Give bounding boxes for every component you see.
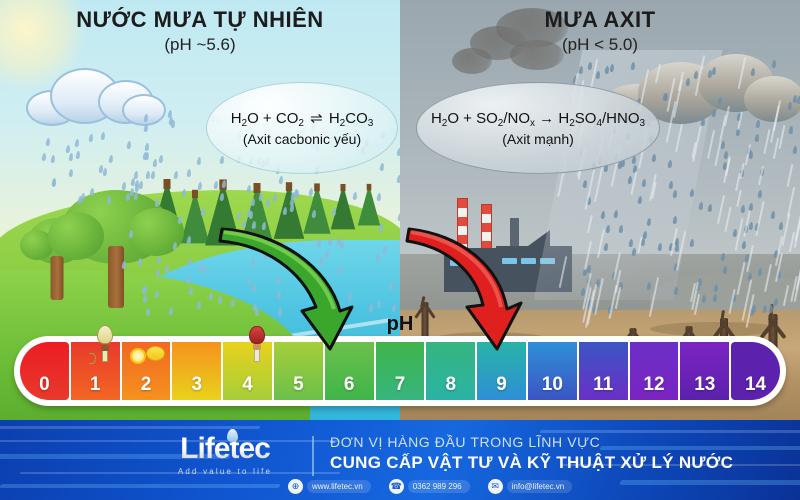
- ph-cell-value: 3: [192, 374, 203, 396]
- right-panel-heading: MƯA AXIT (pH < 5.0): [400, 8, 800, 55]
- ph-cell-value: 8: [445, 374, 456, 396]
- slogan-line-1: ĐƠN VỊ HÀNG ĐẦU TRONG LĨNH VỰC: [330, 434, 733, 452]
- right-title: MƯA AXIT: [400, 8, 800, 32]
- left-panel-heading: NƯỚC MƯA TỰ NHIÊN (pH ~5.6): [0, 8, 400, 55]
- right-formula-note: (Axit mạnh): [502, 131, 574, 147]
- brand-tagline: Add value to life: [150, 467, 300, 476]
- contact-text: www.lifetec.vn: [307, 480, 371, 493]
- brand-name: Lifetec: [180, 434, 270, 464]
- ph-cell-value: 11: [593, 374, 613, 396]
- right-formula: H2O + SO2/NOx → H2SO4/HNO3: [431, 110, 645, 129]
- ph-cell-value: 12: [643, 374, 664, 396]
- contact-text: info@lifetec.vn: [507, 480, 573, 493]
- white-cloud-icon: [26, 64, 166, 126]
- lifetec-logo[interactable]: Lifetec Add value to life: [150, 434, 300, 476]
- ph-cell-value: 7: [395, 374, 406, 396]
- ph-cell-value: 0: [39, 374, 50, 396]
- ph-cell-value: 4: [242, 374, 253, 396]
- infographic-canvas: NƯỚC MƯA TỰ NHIÊN (pH ~5.6) MƯA AXIT (pH…: [0, 0, 800, 500]
- ph-cell-value: 6: [344, 374, 355, 396]
- contact-phone[interactable]: ☎0362 989 296: [389, 479, 470, 494]
- footer-divider: [312, 436, 314, 476]
- footer-brand-bar: Lifetec Add value to life ĐƠN VỊ HÀNG ĐẦ…: [0, 420, 800, 500]
- ph-cell-value: 2: [141, 374, 152, 396]
- water-drop-icon: [227, 429, 238, 442]
- footer-slogan: ĐƠN VỊ HÀNG ĐẦU TRONG LĨNH VỰC CUNG CẤP …: [330, 434, 733, 473]
- left-ph-note: (pH ~5.6): [0, 35, 400, 55]
- ph-cell-value: 13: [694, 374, 715, 396]
- contact-globe[interactable]: ⊕www.lifetec.vn: [288, 479, 371, 494]
- ph-cell-value: 9: [496, 374, 507, 396]
- right-formula-bubble: H2O + SO2/NOx → H2SO4/HNO3 (Axit mạnh): [416, 82, 660, 174]
- ph-cell-value: 5: [293, 374, 304, 396]
- left-formula-note: (Axit cacbonic yếu): [243, 131, 361, 147]
- mail-icon: ✉: [488, 479, 503, 494]
- ph-cell-value: 10: [542, 374, 563, 396]
- left-formula-bubble: H2O + CO2 ⇌ H2CO3 (Axit cacbonic yếu): [206, 82, 398, 174]
- ph-cell-value: 14: [745, 374, 766, 396]
- contact-mail[interactable]: ✉info@lifetec.vn: [488, 479, 573, 494]
- ph-cell-value: 1: [90, 374, 101, 396]
- globe-icon: ⊕: [288, 479, 303, 494]
- left-formula: H2O + CO2 ⇌ H2CO3: [231, 109, 374, 129]
- ph-cell-12[interactable]: 12: [630, 342, 679, 400]
- ph-cell-1[interactable]: 1: [71, 342, 120, 400]
- ph-label: pH: [0, 313, 800, 336]
- right-ph-note: (pH < 5.0): [400, 35, 800, 55]
- ph-cell-14[interactable]: 14: [731, 342, 780, 400]
- phone-icon: ☎: [389, 479, 404, 494]
- slogan-line-2: CUNG CẤP VẬT TƯ VÀ KỸ THUẬT XỬ LÝ NƯỚC: [330, 452, 733, 473]
- ph-cell-13[interactable]: 13: [680, 342, 729, 400]
- contact-list: ⊕www.lifetec.vn☎0362 989 296✉info@lifete…: [288, 479, 572, 494]
- ph-cell-0[interactable]: 0: [20, 342, 69, 400]
- left-title: NƯỚC MƯA TỰ NHIÊN: [0, 8, 400, 32]
- contact-text: 0362 989 296: [408, 480, 470, 493]
- leafy-tree: [56, 190, 176, 308]
- ph-cell-2[interactable]: 2: [122, 342, 171, 400]
